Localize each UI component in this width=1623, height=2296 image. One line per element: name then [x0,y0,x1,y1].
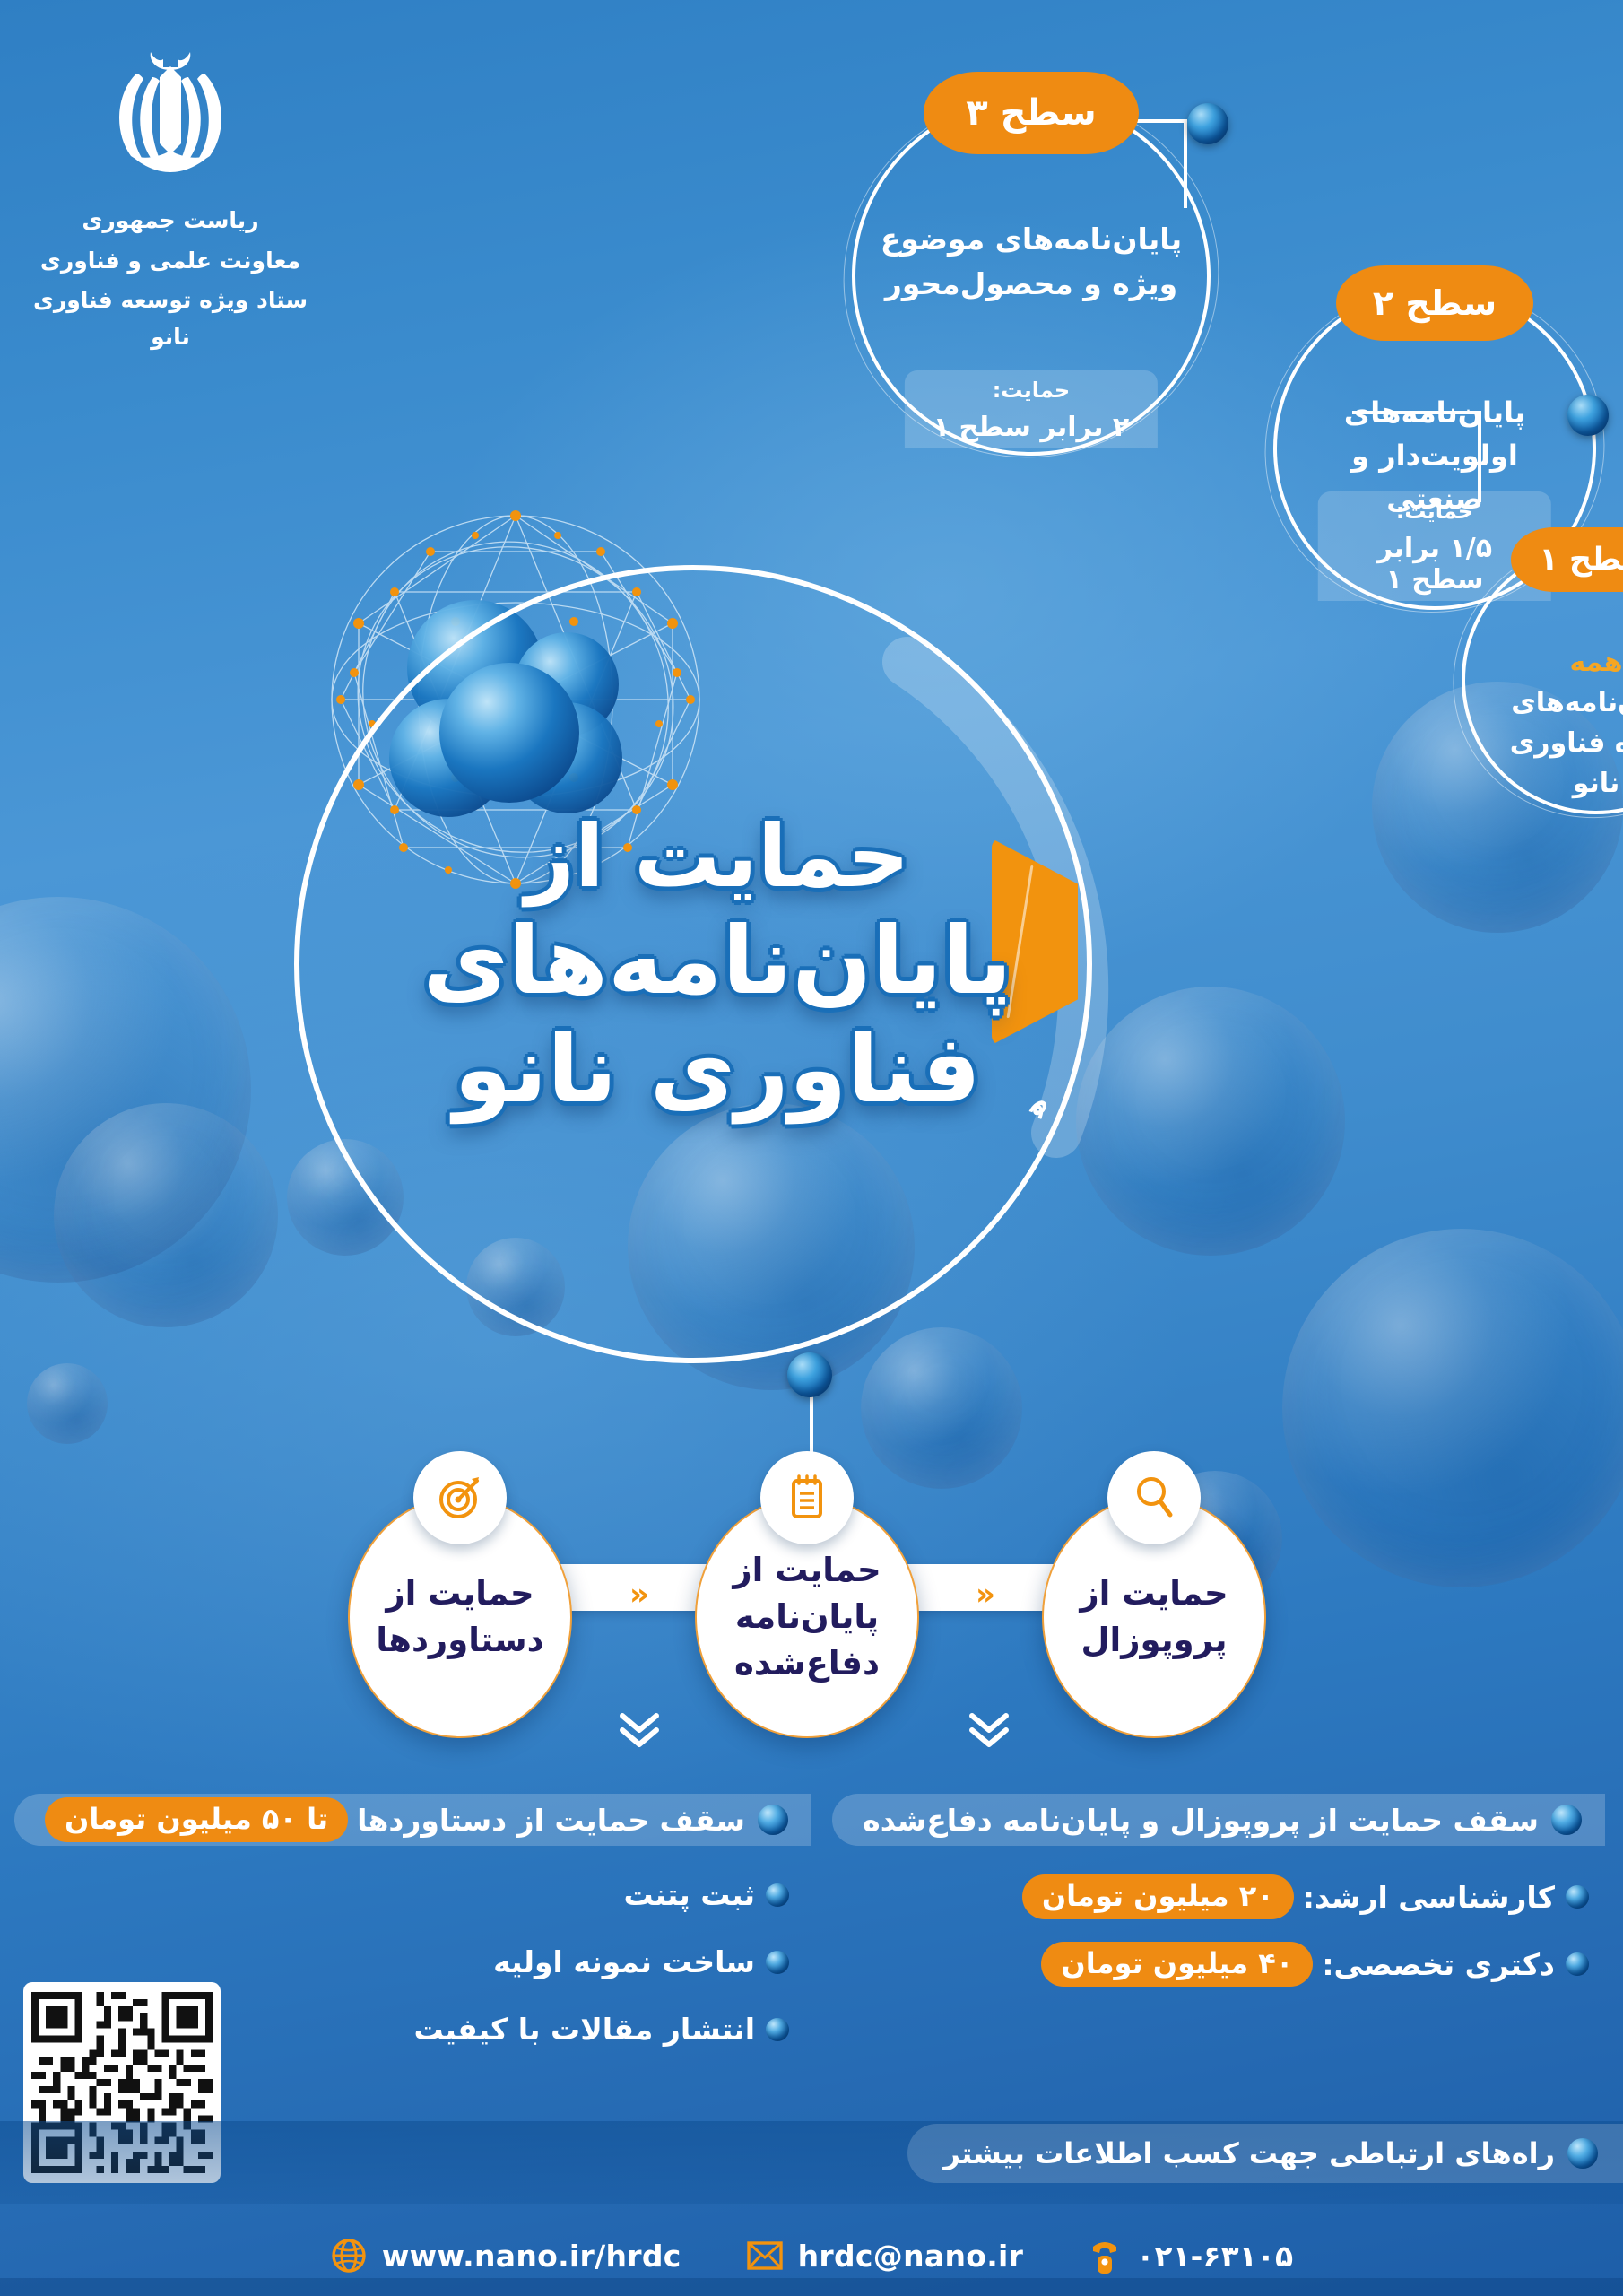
support-cap-left-heading: سقف حمایت از دستاوردها [357,1803,745,1838]
contact-phone[interactable]: ۰۲۱-۶۳۱۰۵ [1088,2236,1293,2275]
support-cap-row-label: کارشناسی ارشد: [1303,1880,1555,1915]
connector-orb [1187,103,1228,144]
support-cap-left-amount: تا ۵۰ میلیون تومان [45,1797,348,1842]
bullet-orb-icon [1551,1805,1582,1835]
clipboard-icon [760,1451,854,1544]
support-cap-row-phd: دکتری تخصصی: ۴۰ میلیون تومان [1041,1942,1589,1987]
poster-canvas: ریاست جمهوری معاونت علمی و فناوری ستاد و… [0,0,1623,2296]
achievement-row-patent: ثبت پتنت [623,1877,789,1912]
bullet-orb-icon [766,1951,789,1974]
support-cap-row-masters: کارشناسی ارشد: ۲۰ میلیون تومان [1022,1874,1589,1919]
footer-heading: راه‌های ارتباطی جهت کسب اطلاعات بیشتر [943,2136,1555,2170]
decorative-bubble [27,1363,108,1444]
organization-logo: ریاست جمهوری معاونت علمی و فناوری ستاد و… [22,38,318,355]
contact-website-value: www.nano.ir/hrdc [382,2239,681,2274]
contact-phone-value: ۰۲۱-۶۳۱۰۵ [1136,2239,1293,2274]
decorative-bubble [1282,1229,1623,1587]
achievement-row-label: ساخت نمونه اولیه [493,1944,755,1979]
connector-orb [1567,395,1609,436]
bullet-orb-icon [1566,1885,1589,1909]
envelope-icon [746,2239,784,2272]
footer-heading-row: راه‌های ارتباطی جهت کسب اطلاعات بیشتر [907,2124,1623,2183]
level-3-circle: سطح ۳ پایان‌نامه‌های موضوع ویژه و محصول‌… [852,97,1211,456]
bullet-orb-icon [1566,1952,1589,1976]
iran-emblem-icon [81,38,260,199]
chevron-down-icon [615,1709,664,1758]
bullet-orb-icon [766,1883,789,1907]
support-cap-left-heading-row: سقف حمایت از دستاوردها تا ۵۰ میلیون توما… [14,1794,811,1846]
level-3-badge: سطح ۳ [924,72,1139,154]
achievement-row-label: انتشار مقالات با کیفیت [413,2012,755,2047]
logo-line-3: ستاد ویژه توسعه فناوری نانو [22,283,318,355]
support-cap-row-amount: ۲۰ میلیون تومان [1022,1874,1294,1919]
achievement-row-prototype: ساخت نمونه اولیه [493,1944,789,1979]
process-step-support-defended-thesis[interactable]: حمایت از پایان‌نامه دفاع‌شده [695,1496,919,1738]
level-3-support-value: ۲ برابر سطح ۱ [928,412,1134,443]
footer-edge [0,2278,1623,2296]
title-line-3: فناوری نانو [386,1015,1049,1124]
support-cap-right-heading-row: سقف حمایت از پروپوزال و پایان‌نامه دفاع‌… [832,1794,1605,1846]
level-2-support-label: حمایت: [1341,499,1528,524]
process-step-label: حمایت از پایان‌نامه دفاع‌شده [697,1547,917,1686]
decorative-bubble [0,897,251,1283]
bullet-orb-icon [758,1805,788,1835]
support-cap-right-heading: سقف حمایت از پروپوزال و پایان‌نامه دفاع‌… [863,1803,1539,1838]
contact-email-value: hrdc@nano.ir [798,2239,1024,2274]
connector-orb [787,1352,832,1397]
level-2-badge: سطح ۲ [1336,265,1533,341]
magnifier-icon [1107,1451,1201,1544]
level-3-support-label: حمایت: [928,378,1134,403]
process-flow: « « حمایت از پروپوزال [332,1453,1282,1704]
decorative-bubble [1076,987,1345,1256]
level-1-badge: سطح ۱ [1511,527,1623,592]
process-step-support-achievements[interactable]: حمایت از دستاوردها [348,1496,572,1738]
globe-icon [330,2237,368,2274]
chevron-down-icon [965,1709,1013,1758]
logo-line-1: ریاست جمهوری [22,203,318,239]
logo-line-2: معاونت علمی و فناوری [22,243,318,280]
target-icon [413,1451,507,1544]
process-step-label: حمایت از دستاوردها [350,1570,570,1664]
phone-icon [1088,2236,1122,2275]
achievement-row-articles: انتشار مقالات با کیفیت [413,2012,789,2047]
decorative-bubble [54,1103,278,1327]
title-line-2: پایان‌نامه‌های [386,907,1049,1015]
achievement-row-label: ثبت پتنت [623,1877,755,1912]
bullet-orb-icon [1567,2138,1598,2169]
bullet-orb-icon [766,2018,789,2041]
process-step-support-proposal[interactable]: حمایت از پروپوزال [1042,1496,1266,1738]
process-step-label: حمایت از پروپوزال [1044,1570,1264,1664]
support-cap-row-label: دکتری تخصصی: [1322,1947,1555,1982]
flow-chevron: « [976,1577,995,1613]
contact-website[interactable]: www.nano.ir/hrdc [330,2237,681,2274]
title-line-1: حمایت از [386,807,1049,907]
contact-email[interactable]: hrdc@nano.ir [746,2239,1024,2274]
level-3-support: حمایت: ۲ برابر سطح ۱ [905,370,1158,448]
flow-chevron: « [629,1577,649,1613]
page-title: حمایت از پایان‌نامه‌های فناوری نانو [386,807,1049,1124]
support-cap-row-amount: ۴۰ میلیون تومان [1041,1942,1313,1987]
